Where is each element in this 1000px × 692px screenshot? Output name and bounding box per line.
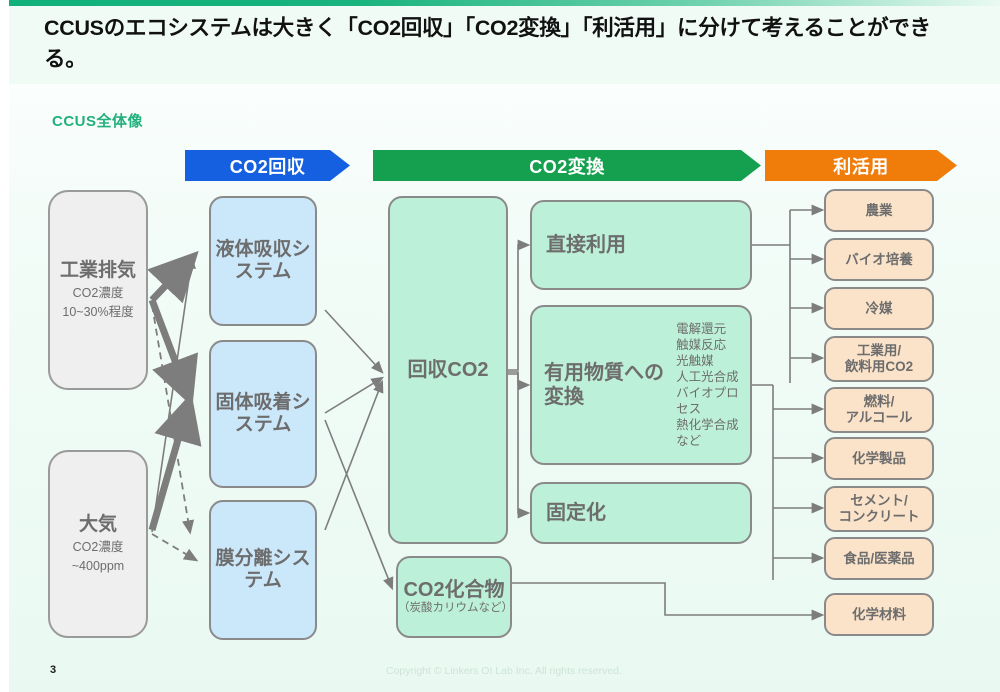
captured-co2-box: 回収CO2 — [388, 196, 508, 544]
utilization-label: 化学材料 — [852, 607, 906, 623]
wire-membrane-to-captured — [325, 382, 382, 530]
wire-conversion-to-utilizations — [752, 385, 822, 580]
wire-direct-use-to-utilizations — [752, 210, 822, 383]
utilization-box-refrigerant: 冷媒 — [824, 287, 934, 330]
slide-canvas: CCUSのエコシステムは大きく「CO2回収」「CO2変換」「利活用」に分けて考え… — [0, 0, 1000, 692]
co2-compound-title: CO2化合物 — [403, 579, 504, 602]
conversion-box-fixation: 固定化 — [530, 482, 752, 544]
left-gutter — [0, 0, 9, 692]
capture-title: 液体吸収システム — [211, 239, 315, 283]
utilization-box-industrial-beverage-co2: 工業用/ 飲料用CO2 — [824, 336, 934, 382]
captured-co2-title: 回収CO2 — [407, 359, 488, 382]
utilization-box-food-pharmaceuticals: 食品/医薬品 — [824, 537, 934, 580]
utilization-box-chemical-materials: 化学材料 — [824, 593, 934, 636]
capture-title: 固体吸着システム — [211, 392, 315, 436]
conversion-title: 直接利用 — [532, 234, 626, 257]
utilization-label: 燃料/ アルコール — [845, 394, 912, 426]
source-sub-line2: ~400ppm — [72, 559, 124, 574]
utilization-label: 工業用/ 飲料用CO2 — [845, 343, 913, 375]
utilization-label: 食品/医薬品 — [843, 551, 914, 567]
source-sub-line2: 10~30%程度 — [62, 305, 133, 320]
source-title: 工業排気 — [60, 260, 136, 282]
wire-liquid-to-captured — [325, 310, 382, 372]
wire-industry-to-solid — [152, 300, 188, 395]
wire-captured-to-conversions — [508, 245, 528, 513]
conversion-box-direct-use: 直接利用 — [530, 200, 752, 290]
utilization-label: セメント/ コンクリート — [839, 493, 920, 525]
utilization-box-agriculture: 農業 — [824, 189, 934, 232]
utilization-label: 冷媒 — [866, 301, 893, 317]
source-box-industrial-exhaust: 工業排気 CO2濃度 10~30%程度 — [48, 190, 148, 390]
source-title: 大気 — [79, 514, 117, 536]
conversion-method-list: 電解還元 触媒反応 光触媒 人工光合成 バイオプロセス 熱化学合成 など — [668, 321, 750, 449]
source-box-atmosphere: 大気 CO2濃度 ~400ppm — [48, 450, 148, 638]
utilization-label: 農業 — [866, 203, 893, 219]
capture-box-liquid-absorption: 液体吸収システム — [209, 196, 317, 326]
utilization-label: バイオ培養 — [845, 252, 913, 268]
conversion-box-useful-substances: 有用物質への変換 電解還元 触媒反応 光触媒 人工光合成 バイオプロセス 熱化学… — [530, 305, 752, 465]
conversion-title: 固定化 — [532, 502, 606, 525]
wire-air-to-membrane — [152, 534, 196, 560]
utilization-box-fuel-alcohol: 燃料/ アルコール — [824, 387, 934, 433]
utilization-box-bio-cultivation: バイオ培養 — [824, 238, 934, 281]
utilization-label: 化学製品 — [852, 451, 906, 467]
capture-box-solid-adsorption: 固体吸着システム — [209, 340, 317, 488]
wire-air-to-solid — [152, 405, 188, 530]
wire-fixation-to-chemical-material — [510, 583, 822, 615]
co2-compound-sub: （炭酸カリウムなど） — [398, 602, 510, 616]
utilization-box-chemical-products: 化学製品 — [824, 437, 934, 480]
conversion-title: 有用物質への変換 — [532, 361, 668, 409]
source-sub-line1: CO2濃度 — [73, 286, 124, 301]
wire-industry-to-liquid — [152, 260, 190, 300]
utilization-box-cement-concrete: セメント/ コンクリート — [824, 486, 934, 532]
wire-solid-to-captured — [325, 378, 382, 413]
capture-box-membrane-separation: 膜分離システム — [209, 500, 317, 640]
capture-title: 膜分離システム — [211, 548, 315, 592]
source-sub-line1: CO2濃度 — [73, 540, 124, 555]
co2-compound-box: CO2化合物 （炭酸カリウムなど） — [396, 556, 512, 638]
